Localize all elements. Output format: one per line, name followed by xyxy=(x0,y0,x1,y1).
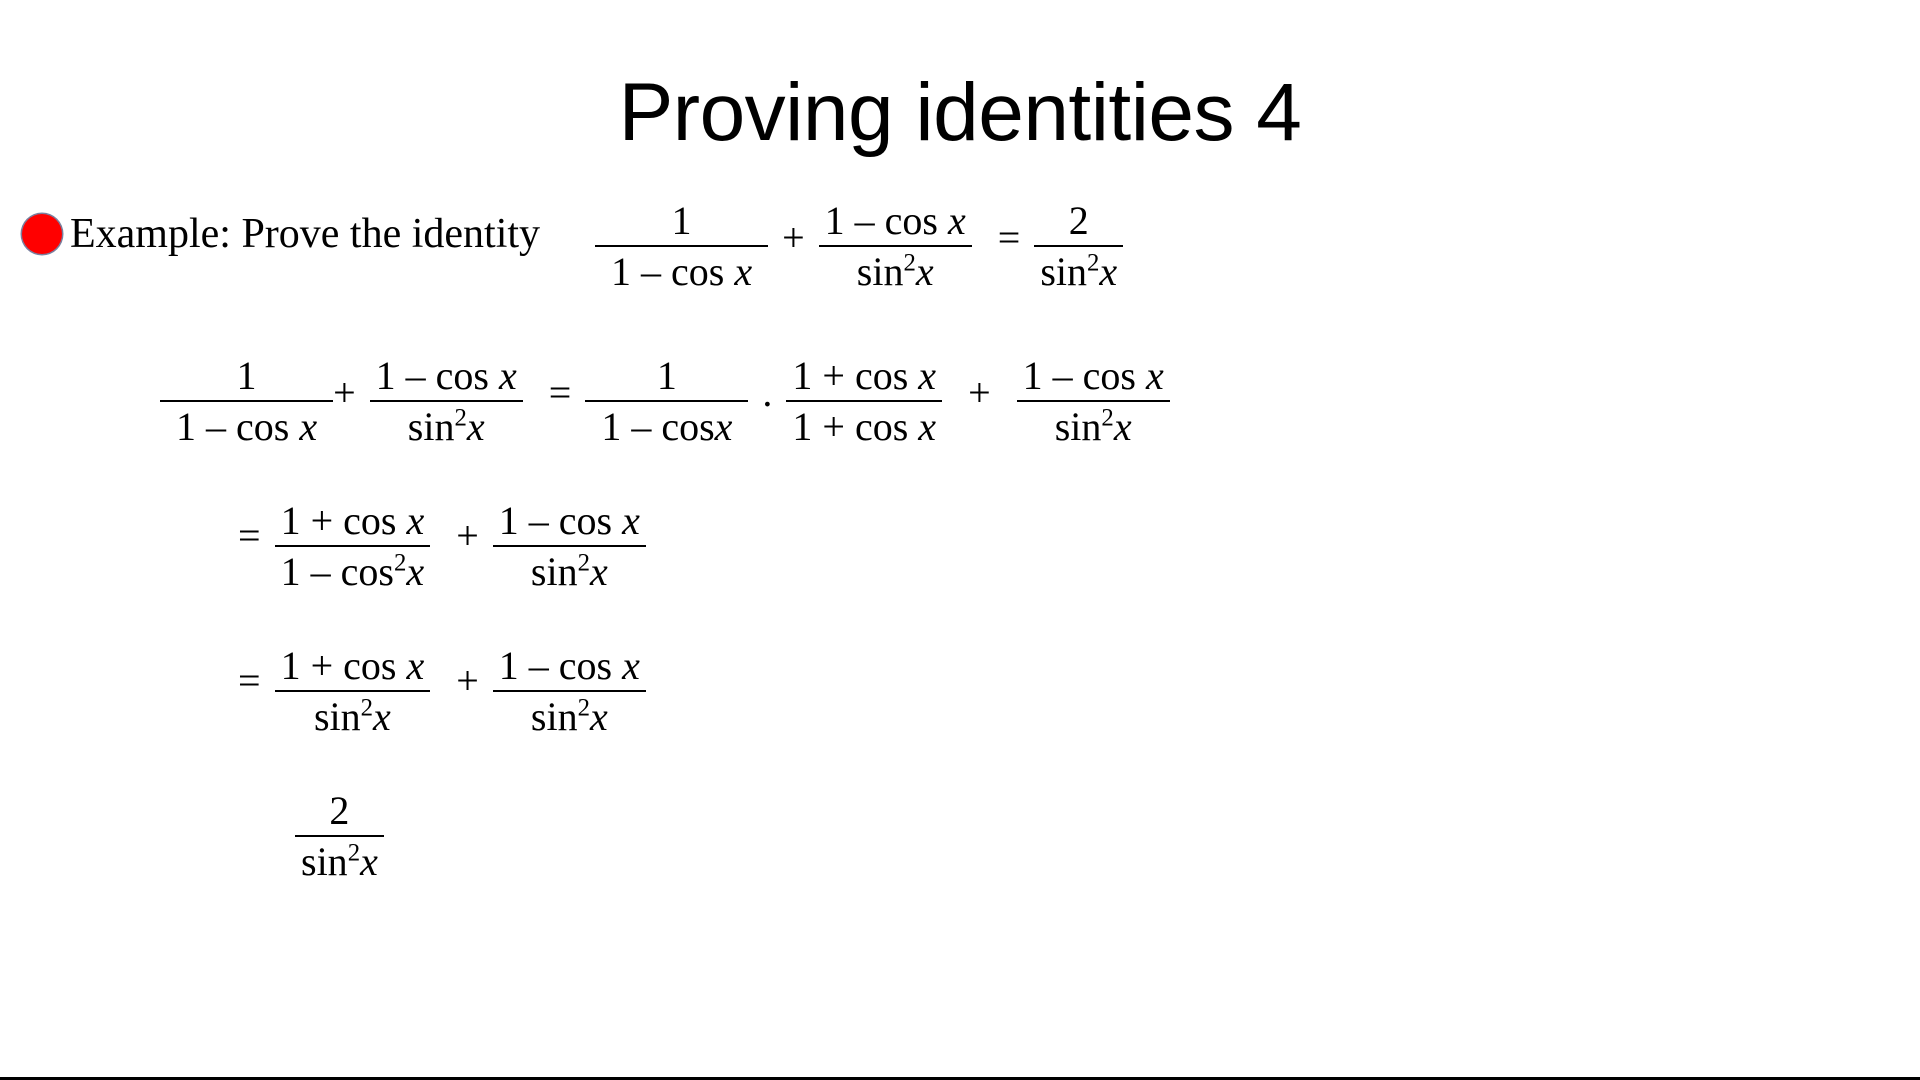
denominator-variable: x xyxy=(916,249,934,294)
denominator-exponent: 2 xyxy=(1101,405,1113,432)
numerator-text: 1 – cos xyxy=(499,498,622,543)
denominator: sin2x xyxy=(402,402,491,448)
operator-plus: + xyxy=(968,355,991,413)
numerator-variable: x xyxy=(1146,353,1164,398)
numerator-text: 1 – cos xyxy=(376,353,499,398)
numerator-variable: x xyxy=(622,643,640,688)
numerator-text: 1 + cos xyxy=(281,643,407,688)
denominator-function: 1 – cos xyxy=(281,549,394,594)
numerator: 2 xyxy=(323,790,355,835)
denominator-variable: x xyxy=(1114,404,1132,449)
denominator-exponent: 2 xyxy=(578,695,590,722)
denominator-variable: x xyxy=(1099,249,1117,294)
fraction: 1 – cos x sin2x xyxy=(493,500,646,593)
fraction: 1 + cos x 1 – cos2x xyxy=(275,500,431,593)
relation-equals: = xyxy=(549,355,572,413)
operator-plus: + xyxy=(456,500,479,556)
denominator: sin2x xyxy=(1034,247,1123,293)
numerator-variable: x xyxy=(406,643,424,688)
relation-equals: = xyxy=(998,200,1021,258)
denominator-function: sin xyxy=(531,549,578,594)
statement-right-term: 2 sin2x xyxy=(1034,200,1123,293)
operator-plus: + xyxy=(782,200,805,258)
numerator: 1 – cos x xyxy=(370,355,523,400)
denominator-text: 1 – cos xyxy=(611,249,734,294)
numerator-text: 1 – cos xyxy=(499,643,622,688)
denominator: sin2x xyxy=(1049,402,1138,448)
denominator: 1 – cos x xyxy=(595,247,768,293)
fraction: 1 – cos x sin2x xyxy=(370,355,523,448)
denominator-variable: x xyxy=(373,694,391,739)
denominator-function: sin xyxy=(314,694,361,739)
identity-statement: 1 1 – cos x + 1 – cos x sin2x = 2 sin2x xyxy=(595,200,1123,293)
bullet-label: Example: Prove the identity xyxy=(70,213,540,255)
operator-plus: + xyxy=(456,645,479,701)
denominator: 1 – cos2x xyxy=(275,547,431,593)
fraction: 1 1 – cosx xyxy=(585,355,748,448)
denominator-exponent: 2 xyxy=(903,250,915,277)
fraction: 1 – cos x sin2x xyxy=(1017,355,1170,448)
denominator-function: sin xyxy=(1040,249,1087,294)
numerator: 1 xyxy=(221,355,273,400)
denominator-exponent: 2 xyxy=(361,695,373,722)
denominator-function: sin xyxy=(408,404,455,449)
numerator: 1 – cos x xyxy=(819,200,972,245)
denominator-function: sin xyxy=(1055,404,1102,449)
filled-circle-bullet-icon xyxy=(22,214,62,254)
denominator-variable: x xyxy=(299,404,317,449)
denominator-exponent: 2 xyxy=(1087,250,1099,277)
denominator-text: 1 – cos xyxy=(176,404,299,449)
numerator: 1 – cos x xyxy=(493,645,646,690)
statement-term-1: 1 1 – cos x xyxy=(595,200,768,293)
numerator: 2 xyxy=(1063,200,1095,245)
denominator-text: 1 + cos xyxy=(792,404,918,449)
derivation-step-3: = 1 + cos x sin2x + 1 – cos x sin2x xyxy=(238,645,646,738)
denominator-function: sin xyxy=(301,839,348,884)
denominator: sin2x xyxy=(851,247,940,293)
denominator-variable: x xyxy=(715,404,733,449)
denominator-variable: x xyxy=(918,404,936,449)
denominator-variable: x xyxy=(590,549,608,594)
numerator-text: 1 – cos xyxy=(825,198,948,243)
denominator-function: sin xyxy=(531,694,578,739)
numerator: 1 xyxy=(656,200,708,245)
denominator: sin2x xyxy=(525,547,614,593)
denominator-exponent: 2 xyxy=(578,550,590,577)
fraction-result: 2 sin2x xyxy=(295,790,384,883)
numerator-variable: x xyxy=(918,353,936,398)
slide-canvas: Proving identities 4 Example: Prove the … xyxy=(0,0,1920,1080)
denominator: sin2x xyxy=(525,692,614,738)
denominator-variable: x xyxy=(734,249,752,294)
numerator-text: 1 + cos xyxy=(792,353,918,398)
relation-equals: = xyxy=(238,500,261,556)
operator-plus: + xyxy=(333,355,356,413)
derivation-step-2: = 1 + cos x 1 – cos2x + 1 – cos x sin2x xyxy=(238,500,646,593)
denominator-function: sin xyxy=(857,249,904,294)
bullet-line: Example: Prove the identity xyxy=(22,213,540,255)
denominator-variable: x xyxy=(406,549,424,594)
numerator-text: 1 + cos xyxy=(281,498,407,543)
numerator: 1 – cos x xyxy=(1017,355,1170,400)
numerator-variable: x xyxy=(622,498,640,543)
numerator-variable: x xyxy=(499,353,517,398)
operator-multiply-dot: . xyxy=(762,355,772,413)
denominator-text: 1 – cos xyxy=(601,404,714,449)
numerator: 1 + cos x xyxy=(275,645,431,690)
numerator: 1 xyxy=(641,355,693,400)
fraction: 1 + cos x 1 + cos x xyxy=(786,355,942,448)
statement-term-2: 1 – cos x sin2x xyxy=(819,200,972,293)
denominator-variable: x xyxy=(590,694,608,739)
numerator: 1 + cos x xyxy=(786,355,942,400)
relation-equals: = xyxy=(238,645,261,701)
denominator-exponent: 2 xyxy=(348,840,360,867)
denominator: 1 – cos x xyxy=(160,402,333,448)
denominator-variable: x xyxy=(467,404,485,449)
denominator: 1 – cosx xyxy=(585,402,748,448)
denominator-exponent: 2 xyxy=(454,405,466,432)
fraction: 1 1 – cos x xyxy=(160,355,333,448)
numerator-text: 1 – cos xyxy=(1023,353,1146,398)
denominator: 1 + cos x xyxy=(786,402,942,448)
numerator-variable: x xyxy=(948,198,966,243)
denominator: sin2x xyxy=(295,837,384,883)
fraction: 1 – cos x sin2x xyxy=(493,645,646,738)
denominator-variable: x xyxy=(360,839,378,884)
derivation-step-4: 2 sin2x xyxy=(295,790,384,883)
denominator-exponent: 2 xyxy=(394,550,406,577)
fraction: 1 + cos x sin2x xyxy=(275,645,431,738)
numerator: 1 – cos x xyxy=(493,500,646,545)
numerator-variable: x xyxy=(406,498,424,543)
derivation-step-1: 1 1 – cos x + 1 – cos x sin2x = 1 1 – co… xyxy=(160,355,1170,448)
page-title: Proving identities 4 xyxy=(0,72,1920,154)
denominator: sin2x xyxy=(308,692,397,738)
numerator: 1 + cos x xyxy=(275,500,431,545)
